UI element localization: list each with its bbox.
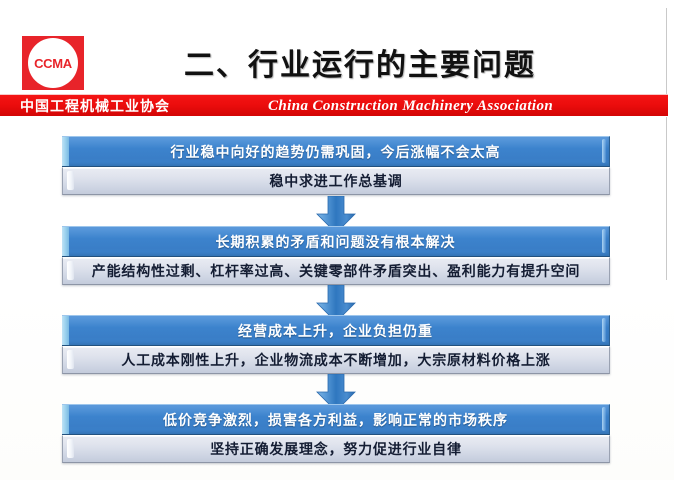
flow-sub-bar-3: 人工成本刚性上升，企业物流成本不断增加，大宗原材料价格上涨 (62, 346, 610, 374)
flow-heading-text-4: 低价竞争激烈，损害各方利益，影响正常的市场秩序 (163, 410, 508, 430)
flow-heading-bar-3: 经营成本上升，企业负担仍重 (62, 315, 610, 346)
flow-sub-text-4: 坚持正确发展理念，努力促进行业自律 (210, 439, 462, 459)
flow-sub-bar-2: 产能结构性过剩、杠杆率过高、关键零部件矛盾突出、盈利能力有提升空间 (62, 257, 610, 285)
flow-heading-text-2: 长期积累的矛盾和问题没有根本解决 (216, 232, 456, 252)
flow-group-1: 行业稳中向好的趋势仍需巩固，今后涨幅不会太高 稳中求进工作总基调 (62, 136, 610, 195)
flow-group-3: 经营成本上升，企业负担仍重 人工成本刚性上升，企业物流成本不断增加，大宗原材料价… (62, 315, 610, 374)
flow-heading-bar-4: 低价竞争激烈，损害各方利益，影响正常的市场秩序 (62, 404, 610, 435)
flow-heading-text-3: 经营成本上升，企业负担仍重 (238, 321, 433, 341)
flow-diagram: 行业稳中向好的趋势仍需巩固，今后涨幅不会太高 稳中求进工作总基调 (0, 0, 674, 480)
flow-group-2: 长期积累的矛盾和问题没有根本解决 产能结构性过剩、杠杆率过高、关键零部件矛盾突出… (62, 226, 610, 285)
flow-group-4: 低价竞争激烈，损害各方利益，影响正常的市场秩序 坚持正确发展理念，努力促进行业自… (62, 404, 610, 463)
flow-heading-text-1: 行业稳中向好的趋势仍需巩固，今后涨幅不会太高 (171, 142, 501, 162)
flow-sub-bar-4: 坚持正确发展理念，努力促进行业自律 (62, 435, 610, 463)
flow-sub-text-1: 稳中求进工作总基调 (269, 171, 402, 191)
flow-heading-bar-1: 行业稳中向好的趋势仍需巩固，今后涨幅不会太高 (62, 136, 610, 167)
presentation-slide: CCMA 二、行业运行的主要问题 中国工程机械工业协会 China Constr… (0, 0, 674, 480)
flow-heading-bar-2: 长期积累的矛盾和问题没有根本解决 (62, 226, 610, 257)
flow-sub-bar-1: 稳中求进工作总基调 (62, 167, 610, 195)
flow-sub-text-3: 人工成本刚性上升，企业物流成本不断增加，大宗原材料价格上涨 (121, 350, 550, 370)
flow-sub-text-2: 产能结构性过剩、杠杆率过高、关键零部件矛盾突出、盈利能力有提升空间 (92, 261, 580, 281)
